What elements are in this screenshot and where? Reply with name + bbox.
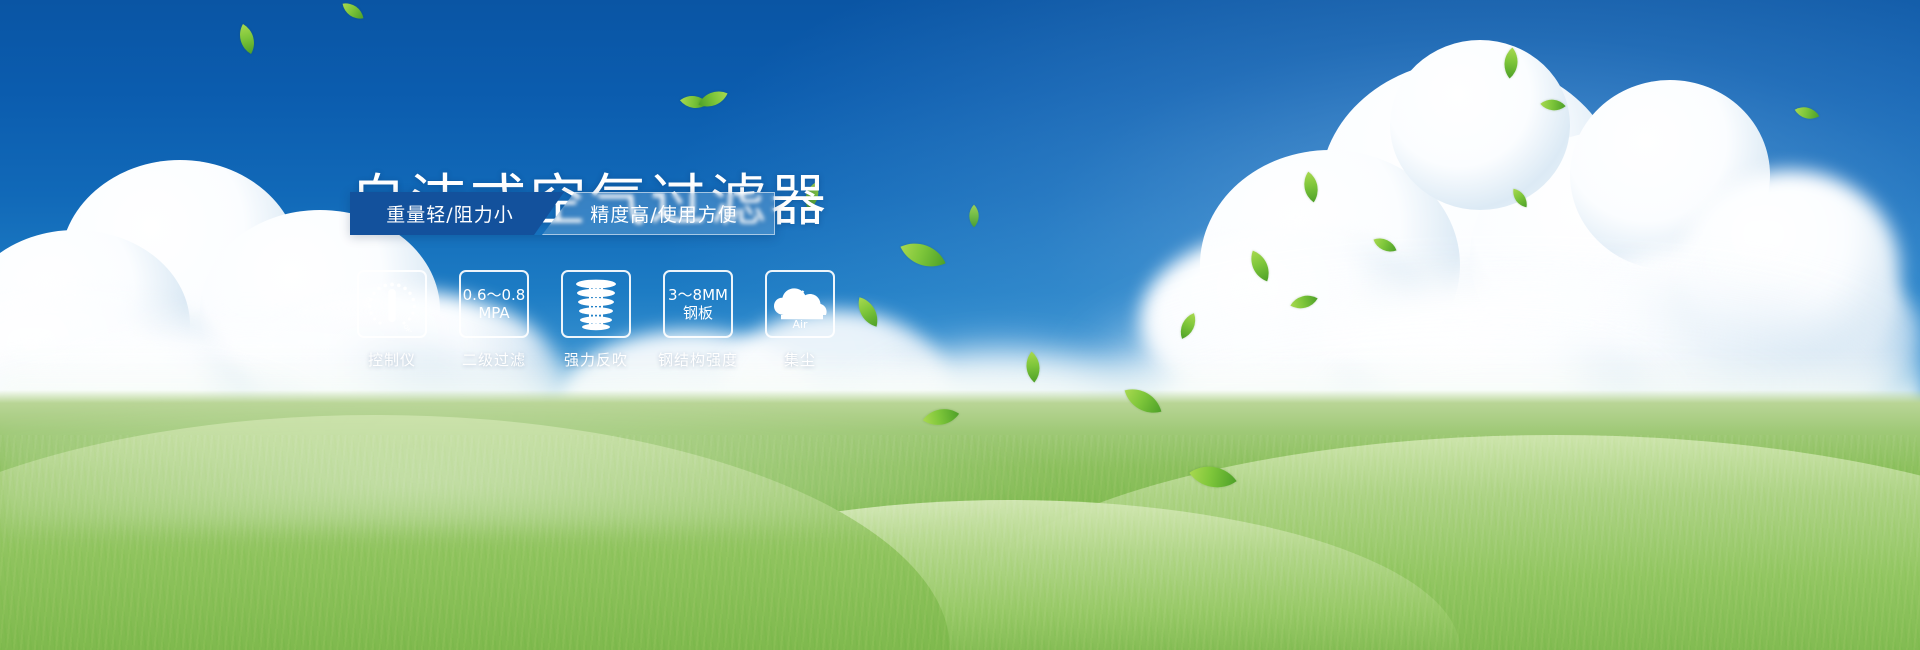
feature-item-dust-collection[interactable]: Air 集尘 <box>764 270 836 370</box>
pressure-text-icon: 0.6～0.8 MPA <box>463 286 526 322</box>
hero-banner: 自洁式空气过滤器 重量轻/阻力小 精度高/使用方便 <box>0 0 1920 650</box>
pressure-unit-text: MPA <box>463 304 526 322</box>
tagline-badge-secondary[interactable]: 精度高/使用方便 <box>542 192 775 235</box>
steel-plate-text-icon: 3～8MM 钢板 <box>668 286 728 322</box>
steel-plate-text: 钢板 <box>668 304 728 322</box>
steel-thickness-text: 3～8MM <box>668 286 728 304</box>
gauge-controller-icon: NO OFF <box>362 276 422 332</box>
air-cloud-icon: Air <box>771 277 829 331</box>
feature-box: 0.6～0.8 MPA <box>459 270 529 338</box>
feature-box: NO OFF <box>357 270 427 338</box>
feature-box: Air <box>765 270 835 338</box>
feature-item-reverse-blow[interactable]: 强力反吹 <box>560 270 632 370</box>
tagline-badge-bar: 重量轻/阻力小 精度高/使用方便 <box>350 192 775 235</box>
reverse-blow-filter-icon <box>568 277 624 331</box>
feature-item-pressure[interactable]: 0.6～0.8 MPA 二级过滤 <box>458 270 530 370</box>
banner-content: 自洁式空气过滤器 重量轻/阻力小 精度高/使用方便 <box>0 0 1920 650</box>
feature-label: 二级过滤 <box>462 349 526 370</box>
feature-icon-row: NO OFF 控制仪 0.6～0.8 MPA 二级过滤 <box>356 270 836 370</box>
feature-label: 控制仪 <box>368 349 416 370</box>
feature-box: 3～8MM 钢板 <box>663 270 733 338</box>
pressure-range-text: 0.6～0.8 <box>463 286 526 304</box>
title-leaf-icon <box>698 84 727 113</box>
tagline-badge-primary[interactable]: 重量轻/阻力小 <box>350 192 564 235</box>
air-label: Air <box>792 318 808 331</box>
feature-label: 强力反吹 <box>564 349 628 370</box>
feature-label: 集尘 <box>784 349 816 370</box>
gauge-max-label: OFF <box>401 323 413 332</box>
feature-box <box>561 270 631 338</box>
feature-item-controller[interactable]: NO OFF 控制仪 <box>356 270 428 370</box>
feature-label: 钢结构强度 <box>658 349 738 370</box>
feature-item-steel-plate[interactable]: 3～8MM 钢板 钢结构强度 <box>662 270 734 370</box>
gauge-min-label: NO <box>362 295 374 308</box>
